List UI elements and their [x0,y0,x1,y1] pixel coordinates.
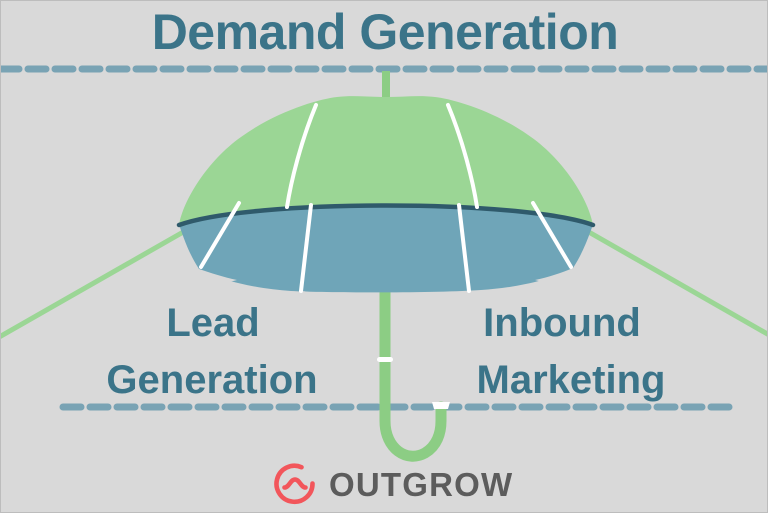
left-category-label-line1: Lead [68,295,358,352]
page-title: Demand Generation [1,7,768,57]
outgrow-wordmark: OUTGROW [329,468,513,501]
umbrella-illustration [1,1,768,513]
umbrella-canopy-underside [179,207,593,292]
outgrow-circle-mark [273,462,317,506]
shaft-collar-upper [377,357,393,362]
outgrow-logo: OUTGROW [273,462,513,506]
left-category-label-line2: Generation [67,352,357,409]
infographic-canvas: Demand Generation Lead Generation Inboun… [0,0,768,513]
left-category-label: Lead Generation [67,295,357,409]
right-category-label-line2: Marketing [421,352,721,409]
right-category-label-line1: Inbound [412,295,712,352]
right-category-label: Inbound Marketing [421,295,721,409]
